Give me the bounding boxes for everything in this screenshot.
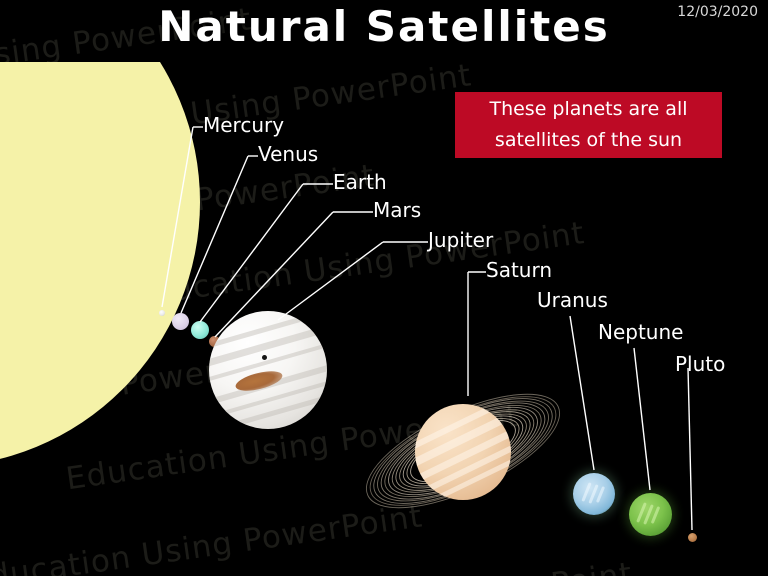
- planet-label-venus: Venus: [258, 142, 318, 166]
- planet-label-earth: Earth: [333, 170, 387, 194]
- planet-label-mars: Mars: [373, 198, 421, 222]
- callout-line-2: satellites of the sun: [455, 125, 722, 156]
- planet-pluto: [688, 533, 697, 542]
- planet-saturn: [352, 358, 574, 544]
- leader-neptune: [634, 348, 650, 490]
- saturn-disc: [415, 404, 511, 500]
- slide-date: 12/03/2020: [677, 4, 758, 20]
- planet-mercury: [159, 310, 165, 316]
- callout-line-1: These planets are all: [455, 94, 722, 125]
- slide-canvas: Education Using PowerPoint Education Usi…: [0, 0, 768, 576]
- callout-box: These planets are all satellites of the …: [455, 92, 722, 158]
- planet-uranus: [573, 473, 615, 515]
- planet-label-mercury: Mercury: [203, 113, 284, 137]
- leader-pluto: [688, 368, 692, 530]
- leader-jupiter: [278, 242, 383, 320]
- planet-jupiter: [209, 311, 327, 429]
- page-title: Natural Satellites: [0, 2, 768, 51]
- planet-earth: [191, 321, 209, 339]
- planet-label-uranus: Uranus: [537, 288, 608, 312]
- planet-label-neptune: Neptune: [598, 320, 683, 344]
- planet-label-jupiter: Jupiter: [428, 228, 493, 252]
- planet-label-saturn: Saturn: [486, 258, 552, 282]
- sun-disc: [0, 62, 200, 467]
- planet-venus: [172, 313, 189, 330]
- planet-label-pluto: Pluto: [675, 352, 725, 376]
- jupiter-moon-shadow: [262, 355, 267, 360]
- planet-neptune: [629, 493, 672, 536]
- watermark-line: Education Using PowerPoint: [0, 568, 768, 576]
